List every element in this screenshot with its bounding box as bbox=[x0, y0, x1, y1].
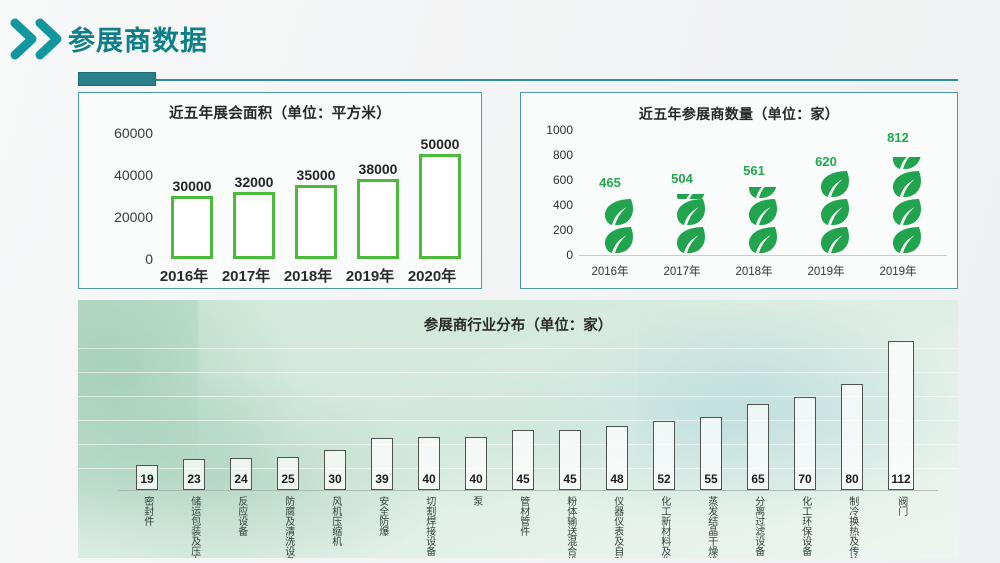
x-tick: 安全防爆 bbox=[376, 496, 388, 558]
x-tick: 防腐及清洗设备 bbox=[282, 496, 294, 558]
header-rule-block bbox=[78, 72, 156, 86]
x-tick: 反应设备 bbox=[235, 496, 247, 558]
bar-value-15: 80 bbox=[833, 472, 871, 486]
pictograph-column-2019-a bbox=[817, 130, 851, 255]
slide-root: 参展商数据 近五年展会面积（单位：平方米） 60000 40000 20000 … bbox=[0, 0, 1000, 563]
x-tick: 阀门 bbox=[895, 496, 907, 558]
gridline bbox=[78, 396, 958, 397]
bar-value-2020: 50000 bbox=[406, 136, 474, 152]
bar-value-11: 52 bbox=[645, 472, 683, 486]
leaf-icon bbox=[745, 225, 779, 255]
leaf-icon bbox=[673, 197, 707, 227]
x-tick-wrap-15: 制冷换热及传热 bbox=[829, 496, 875, 558]
plot-area-exhibitor-count bbox=[579, 130, 947, 255]
bar-2020 bbox=[419, 154, 461, 259]
bar-value-4: 30 bbox=[316, 472, 354, 486]
y-tick: 600 bbox=[521, 173, 573, 187]
x-tick-wrap-11: 化工新材料及化学品 bbox=[641, 496, 687, 558]
chart-title-exhibition-area: 近五年展会面积（单位：平方米） bbox=[79, 102, 481, 123]
bar-value-9: 45 bbox=[551, 472, 589, 486]
gridline bbox=[78, 348, 958, 349]
bar-value-5: 39 bbox=[363, 472, 401, 486]
bar-value-7: 40 bbox=[457, 472, 495, 486]
bar-value-2: 24 bbox=[222, 472, 260, 486]
y-tick: 200 bbox=[521, 223, 573, 237]
leaf-icon bbox=[673, 194, 707, 199]
leaf-icon bbox=[817, 225, 851, 255]
x-tick-wrap-16: 阀门 bbox=[878, 496, 924, 558]
bar-16 bbox=[888, 341, 914, 490]
x-tick-wrap-4: 风机压缩机 bbox=[312, 496, 358, 558]
bar-value-3: 25 bbox=[269, 472, 307, 486]
leaf-icon bbox=[817, 197, 851, 227]
x-tick: 密封件 bbox=[141, 496, 153, 558]
x-tick: 2016年 bbox=[573, 263, 647, 279]
y-tick: 40000 bbox=[79, 167, 153, 183]
x-tick-wrap-2: 反应设备 bbox=[218, 496, 264, 558]
x-tick: 泵 bbox=[470, 496, 482, 558]
x-tick-wrap-1: 储运包装及压力容器 bbox=[171, 496, 217, 558]
bar-value-13: 65 bbox=[739, 472, 777, 486]
pictograph-value-2019-b: 812 bbox=[867, 130, 929, 145]
y-tick: 1000 bbox=[521, 123, 573, 137]
pictograph-column-2016 bbox=[601, 130, 635, 255]
leaf-icon bbox=[889, 225, 923, 255]
x-tick: 仪器仪表及自动化控制 bbox=[611, 496, 623, 558]
bar-value-1: 23 bbox=[175, 472, 213, 486]
x-tick-wrap-8: 管材管件 bbox=[500, 496, 546, 558]
x-tick: 风机压缩机 bbox=[329, 496, 341, 558]
bar-2017 bbox=[233, 192, 275, 259]
x-tick: 蒸发结晶干燥设备 bbox=[705, 496, 717, 558]
leaf-icon bbox=[889, 197, 923, 227]
x-tick: 粉体输送混合设备 bbox=[564, 496, 576, 558]
chart-card-exhibition-area: 近五年展会面积（单位：平方米） 60000 40000 20000 0 3000… bbox=[78, 92, 482, 289]
bar-value-8: 45 bbox=[504, 472, 542, 486]
page-title: 参展商数据 bbox=[68, 24, 208, 58]
pictograph-value-2019-a: 620 bbox=[795, 154, 857, 169]
leaf-icon bbox=[745, 197, 779, 227]
bar-value-2019: 38000 bbox=[344, 161, 412, 177]
y-tick: 0 bbox=[521, 248, 573, 262]
plot-area-exhibition-area: 30000 32000 35000 38000 50000 bbox=[163, 133, 475, 259]
leaf-icon bbox=[817, 169, 851, 199]
pictograph-value-2018: 561 bbox=[723, 163, 785, 178]
chart-card-industry-distribution: 参展商行业分布（单位：家） 19 23 24 25 30 39 40 40 45… bbox=[78, 300, 958, 558]
y-tick: 400 bbox=[521, 198, 573, 212]
x-tick: 分离过滤设备 bbox=[752, 496, 764, 558]
bar-value-2017: 32000 bbox=[220, 174, 288, 190]
pictograph-value-2017: 504 bbox=[651, 171, 713, 186]
x-tick-wrap-5: 安全防爆 bbox=[359, 496, 405, 558]
bar-value-10: 48 bbox=[598, 472, 636, 486]
leaf-icon bbox=[745, 187, 779, 199]
slide-header: 参展商数据 bbox=[0, 0, 1000, 78]
x-tick-wrap-12: 蒸发结晶干燥设备 bbox=[688, 496, 734, 558]
x-tick-wrap-0: 密封件 bbox=[124, 496, 170, 558]
pictograph-column-2019-b bbox=[889, 130, 923, 255]
bar-2018 bbox=[295, 185, 337, 259]
x-tick: 2019年 bbox=[861, 263, 935, 279]
x-tick: 管材管件 bbox=[517, 496, 529, 558]
leaf-icon bbox=[889, 169, 923, 199]
bar-value-0: 19 bbox=[128, 472, 166, 486]
bar-value-16: 112 bbox=[882, 472, 920, 486]
leaf-icon bbox=[601, 225, 635, 255]
x-tick: 2017年 bbox=[645, 263, 719, 279]
y-tick: 0 bbox=[79, 251, 153, 267]
x-tick-wrap-3: 防腐及清洗设备 bbox=[265, 496, 311, 558]
bar-value-2016: 30000 bbox=[158, 178, 226, 194]
x-tick: 2018年 bbox=[717, 263, 791, 279]
gridline bbox=[78, 372, 958, 373]
double-chevron-right-icon bbox=[10, 17, 70, 61]
x-tick-wrap-9: 粉体输送混合设备 bbox=[547, 496, 593, 558]
bar-value-6: 40 bbox=[410, 472, 448, 486]
x-tick-wrap-6: 切割焊接设备 bbox=[406, 496, 452, 558]
chart-card-exhibitor-count: 近五年参展商数量（单位：家） 1000 800 600 400 200 0 bbox=[520, 92, 958, 289]
x-tick: 切割焊接设备 bbox=[423, 496, 435, 558]
bar-value-14: 70 bbox=[786, 472, 824, 486]
pictograph-column-2017 bbox=[673, 130, 707, 255]
pictograph-column-2018 bbox=[745, 130, 779, 255]
bar-2016 bbox=[171, 196, 213, 259]
header-rule bbox=[78, 79, 958, 81]
x-tick: 储运包装及压力容器 bbox=[188, 496, 200, 558]
leaf-icon bbox=[601, 197, 635, 227]
x-tick-wrap-10: 仪器仪表及自动化控制 bbox=[594, 496, 640, 558]
x-tick: 化工新材料及化学品 bbox=[658, 496, 670, 558]
x-tick-wrap-13: 分离过滤设备 bbox=[735, 496, 781, 558]
x-tick: 2020年 bbox=[393, 265, 471, 286]
x-tick: 制冷换热及传热 bbox=[846, 496, 858, 558]
leaf-icon bbox=[673, 225, 707, 255]
gridline bbox=[78, 420, 958, 421]
y-tick: 800 bbox=[521, 148, 573, 162]
x-tick: 化工环保设备 bbox=[799, 496, 811, 558]
chart-title-exhibitor-count: 近五年参展商数量（单位：家） bbox=[521, 104, 957, 124]
chart-title-industry-distribution: 参展商行业分布（单位：家） bbox=[78, 314, 958, 335]
leaf-icon bbox=[889, 157, 923, 171]
x-axis-line bbox=[579, 255, 947, 256]
y-tick: 20000 bbox=[79, 209, 153, 225]
bar-2019 bbox=[357, 179, 399, 259]
y-tick: 60000 bbox=[79, 125, 153, 141]
x-tick-wrap-14: 化工环保设备 bbox=[782, 496, 828, 558]
x-axis-line bbox=[118, 490, 938, 491]
bar-value-12: 55 bbox=[692, 472, 730, 486]
x-tick-wrap-7: 泵 bbox=[453, 496, 499, 558]
bar-value-2018: 35000 bbox=[282, 167, 350, 183]
pictograph-value-2016: 465 bbox=[579, 175, 641, 190]
x-tick: 2019年 bbox=[789, 263, 863, 279]
